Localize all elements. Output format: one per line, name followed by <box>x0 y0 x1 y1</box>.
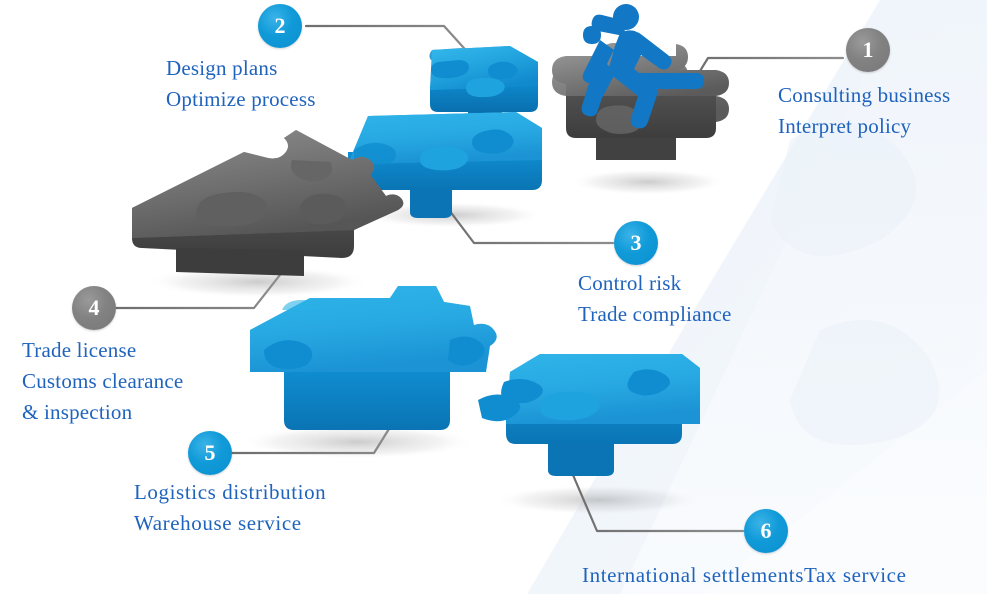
step-1-line-2: Interpret policy <box>778 111 950 142</box>
shadow-piece-1 <box>570 169 726 195</box>
step-label-5: Logistics distribution Warehouse service <box>134 477 326 539</box>
step-badge-6[interactable]: 6 <box>744 509 788 553</box>
step-number-5: 5 <box>205 440 216 466</box>
step-label-4: Trade license Customs clearance & inspec… <box>22 335 183 428</box>
step-label-6: International settlementsTax service <box>582 560 907 591</box>
step-badge-1[interactable]: 1 <box>846 28 890 72</box>
shadow-piece-6 <box>494 485 702 515</box>
step-label-2: Design plans Optimize process <box>166 53 316 115</box>
step-number-6: 6 <box>761 518 772 544</box>
step-badge-5[interactable]: 5 <box>188 431 232 475</box>
step-number-1: 1 <box>863 37 874 63</box>
step-5-line-2: Warehouse service <box>134 508 326 539</box>
step-1-line-1: Consulting business <box>778 80 950 111</box>
step-6-line-1: International settlementsTax service <box>582 560 907 591</box>
diagram-canvas: 1 2 3 4 5 6 Consulting business Interpre… <box>0 0 987 594</box>
step-label-3: Control risk Trade compliance <box>578 268 731 330</box>
step-4-line-1: Trade license <box>22 335 183 366</box>
step-5-line-1: Logistics distribution <box>134 477 326 508</box>
step-badge-2[interactable]: 2 <box>258 4 302 48</box>
step-number-4: 4 <box>89 295 100 321</box>
puzzle-piece-5 <box>250 286 497 430</box>
puzzle-piece-6 <box>478 354 700 476</box>
step-number-3: 3 <box>631 230 642 256</box>
step-badge-4[interactable]: 4 <box>72 286 116 330</box>
step-3-line-1: Control risk <box>578 268 731 299</box>
step-badge-3[interactable]: 3 <box>614 221 658 265</box>
step-number-2: 2 <box>275 13 286 39</box>
step-4-line-2: Customs clearance <box>22 366 183 397</box>
step-2-line-2: Optimize process <box>166 84 316 115</box>
step-3-line-2: Trade compliance <box>578 299 731 330</box>
step-label-1: Consulting business Interpret policy <box>778 80 950 142</box>
step-2-line-1: Design plans <box>166 53 316 84</box>
step-4-line-3: & inspection <box>22 397 183 428</box>
